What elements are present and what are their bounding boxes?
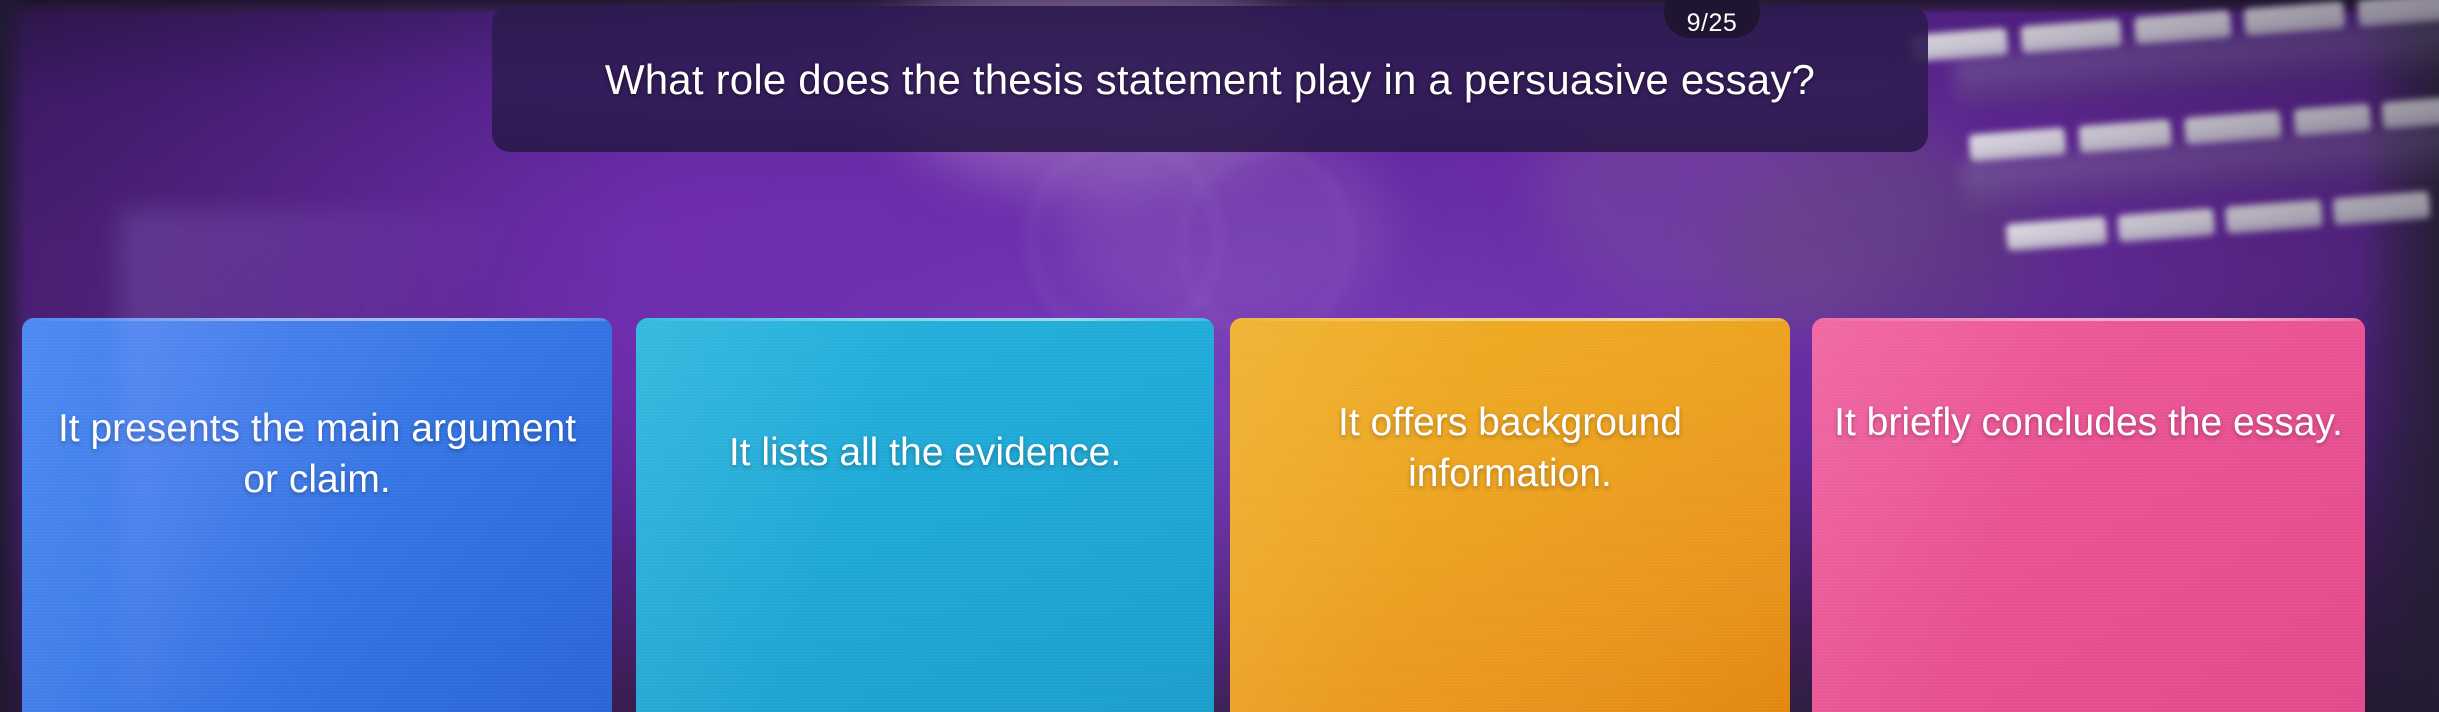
answer-option-label: It offers background information. — [1230, 398, 1790, 499]
answer-option-label: It presents the main argument or claim. — [22, 404, 612, 505]
screen-scanlines — [22, 318, 612, 712]
question-counter-text: 9/25 — [1687, 11, 1738, 36]
answer-option-pink[interactable]: It briefly concludes the essay. — [1812, 318, 2365, 712]
quiz-screen: 9/25 What role does the thesis statement… — [0, 0, 2439, 712]
answer-option-blue[interactable]: It presents the main argument or claim. — [22, 318, 612, 712]
question-panel: 9/25 What role does the thesis statement… — [492, 6, 1928, 152]
screen-scanlines — [1812, 318, 2365, 712]
blurred-fingertip — [1180, 150, 1350, 335]
answer-option-orange[interactable]: It offers background information. — [1230, 318, 1790, 712]
tile-sheen — [1812, 318, 2131, 712]
answer-options-row: It presents the main argument or claim. … — [0, 318, 2439, 712]
blurred-hand-glow — [1720, 150, 2040, 340]
answer-option-label: It lists all the evidence. — [711, 428, 1139, 479]
screen-scanlines — [1230, 318, 1790, 712]
question-text: What role does the thesis statement play… — [492, 56, 1928, 104]
tile-sheen — [636, 318, 967, 712]
tile-sheen — [1230, 318, 1552, 712]
answer-option-cyan[interactable]: It lists all the evidence. — [636, 318, 1214, 712]
question-counter-badge: 9/25 — [1664, 0, 1760, 38]
answer-option-label: It briefly concludes the essay. — [1816, 398, 2361, 449]
tile-sheen — [22, 318, 359, 712]
screen-scanlines — [636, 318, 1214, 712]
